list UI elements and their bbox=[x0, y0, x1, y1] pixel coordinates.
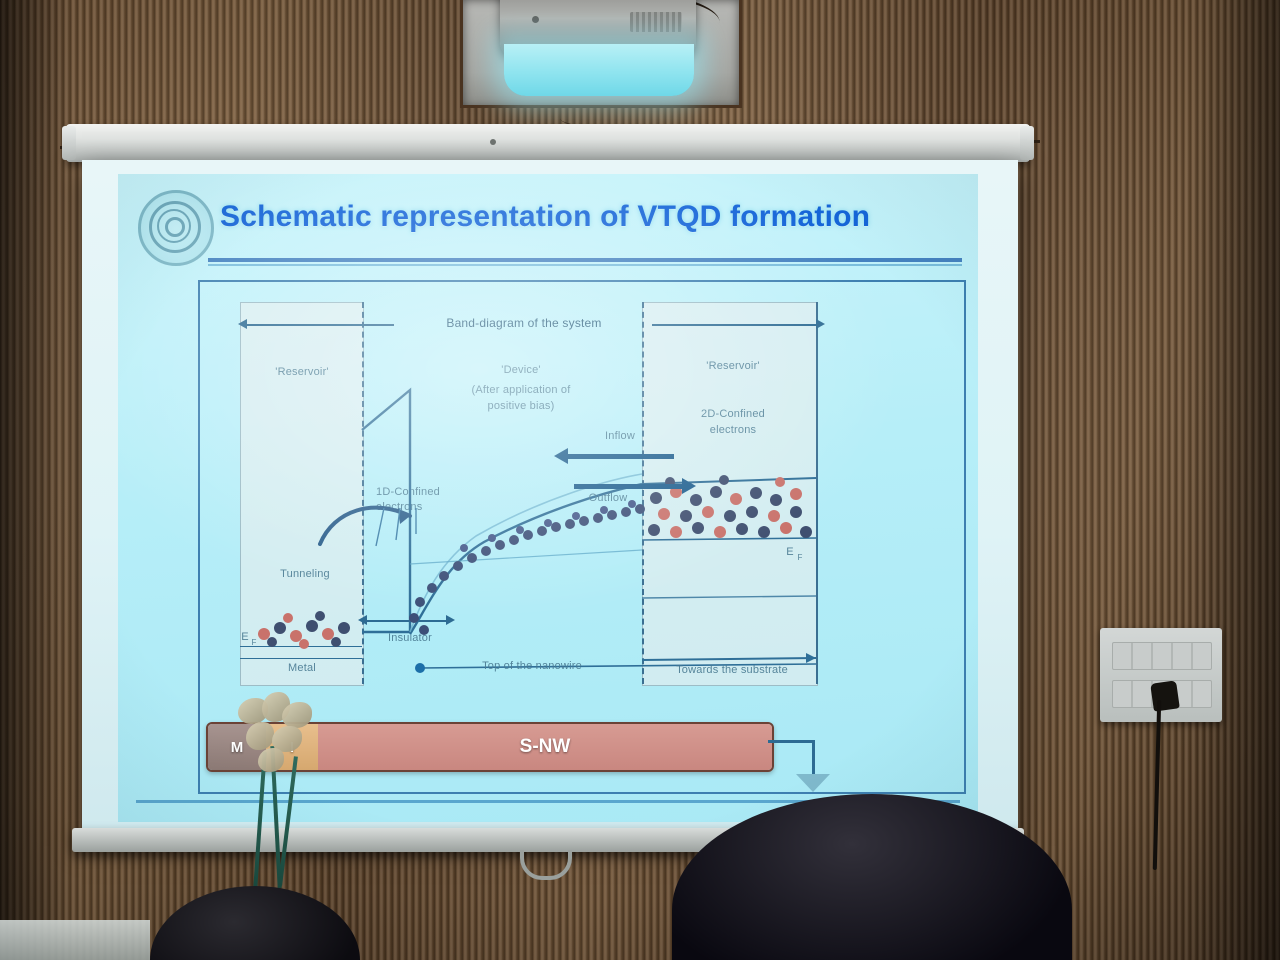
black-plug[interactable] bbox=[1150, 680, 1180, 711]
left-fermi-level-line bbox=[240, 646, 362, 647]
panel-right-edge bbox=[816, 302, 818, 684]
semiconductor-nanowire-segment: S-NW bbox=[318, 724, 772, 770]
inflow-label: Inflow bbox=[580, 430, 660, 444]
flower-arrangement bbox=[228, 692, 324, 888]
metal-label: Metal bbox=[246, 662, 358, 676]
title-divider-secondary bbox=[208, 264, 962, 266]
lecture-hall-scene: Schematic representation of VTQD formati… bbox=[0, 0, 1280, 960]
dot-chain-1d-upper bbox=[460, 500, 636, 552]
dot-chain-1d bbox=[409, 504, 645, 635]
foreground-desk bbox=[0, 920, 150, 960]
insulator-span-line bbox=[364, 620, 450, 622]
outflow-arrow-shaft bbox=[574, 484, 684, 489]
confined-2d-label-line2: electrons bbox=[658, 424, 808, 438]
band-span-line-right bbox=[652, 324, 820, 326]
roller-end-cap-right bbox=[1020, 126, 1034, 160]
projector-lens-glow bbox=[504, 44, 694, 96]
insulator-span-arrow-right bbox=[446, 615, 455, 625]
band-span-arrow-left bbox=[238, 319, 247, 329]
insulator-label: Insulator bbox=[364, 632, 456, 646]
outflow-label: Outflow bbox=[568, 492, 648, 506]
outflow-arrow-head bbox=[682, 478, 696, 494]
nanowire-top-label: Top of the nanowire bbox=[432, 660, 632, 674]
device-reference-line bbox=[410, 550, 642, 564]
roller-marker-icon bbox=[490, 139, 496, 145]
switch-row-top[interactable] bbox=[1112, 642, 1212, 670]
right-fermi-subscript: F bbox=[794, 553, 806, 563]
confined-2d-label-line1: 2D-Confined bbox=[658, 408, 808, 422]
nanowire-origin-dot bbox=[415, 663, 425, 673]
institution-seal-icon bbox=[138, 190, 214, 266]
left-reservoir-region bbox=[240, 302, 364, 686]
band-diagram-top-label: Band-diagram of the system bbox=[402, 316, 646, 331]
slide-title: Schematic representation of VTQD formati… bbox=[220, 200, 960, 234]
left-reservoir-label: 'Reservoir' bbox=[246, 366, 358, 380]
projection-screen-roller[interactable] bbox=[66, 124, 1030, 162]
wall-right-shadow bbox=[1190, 0, 1280, 960]
device-label: 'Device' bbox=[416, 364, 626, 378]
band-span-line-left bbox=[244, 324, 394, 326]
title-divider bbox=[208, 258, 962, 262]
tunneling-label: Tunneling bbox=[246, 568, 364, 582]
left-boundary-dashed bbox=[362, 302, 364, 684]
device-sub-line1: (After application of bbox=[416, 384, 626, 398]
ground-icon bbox=[796, 774, 830, 792]
confined-1d-label-line2: electrons bbox=[376, 501, 484, 515]
confined-1d-label-line1: 1D-Confined bbox=[376, 486, 484, 500]
band-diagram: Band-diagram of the system 'Reservoir' T… bbox=[224, 302, 936, 692]
projector-vent-icon bbox=[630, 12, 682, 32]
band-span-arrow-right bbox=[816, 319, 825, 329]
device-sub-line2: positive bias) bbox=[416, 400, 626, 414]
insulator-span-arrow-left bbox=[358, 615, 367, 625]
towards-substrate-label: Towards the substrate bbox=[644, 664, 820, 678]
roller-end-cap-left bbox=[62, 126, 76, 160]
inflow-arrow-shaft bbox=[564, 454, 674, 459]
right-reservoir-label: 'Reservoir' bbox=[658, 360, 808, 374]
metal-top-line bbox=[240, 658, 362, 659]
projector-indicator-icon bbox=[532, 16, 539, 23]
